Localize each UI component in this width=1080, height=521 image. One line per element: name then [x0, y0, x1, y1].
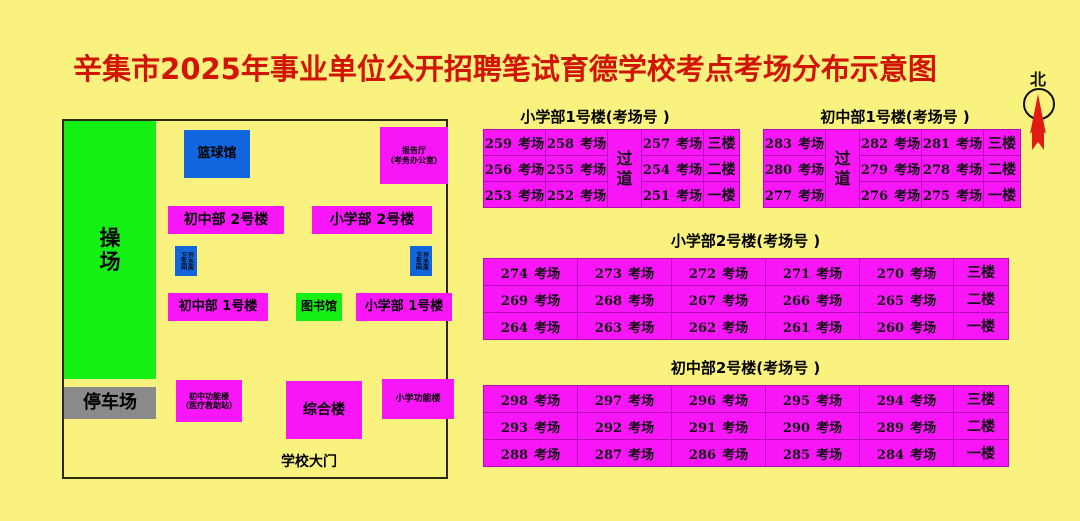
- hall-label-line2: （考务办公室）: [386, 156, 442, 165]
- room-number: 259: [485, 137, 512, 152]
- room-suffix: 考场: [628, 321, 654, 336]
- room-suffix: 考场: [956, 163, 982, 178]
- room-cell[interactable]: 262考场: [672, 313, 766, 340]
- map-block-primary-building-1: 小学部 1号楼: [356, 293, 452, 321]
- map-block-primary-building-2: 小学部 2号楼: [312, 206, 432, 234]
- room-number: 270: [877, 267, 904, 282]
- map-label-school-gate: 学校大门: [214, 451, 404, 471]
- room-cell[interactable]: 275考场: [922, 182, 984, 208]
- table-row: 283考场过道282考场281考场三楼: [764, 130, 1021, 156]
- room-cell[interactable]: 253考场: [484, 182, 546, 208]
- floor-cell: 二楼: [954, 413, 1009, 440]
- table-row: 293考场292考场291考场290考场289考场二楼: [484, 413, 1009, 440]
- room-number: 293: [501, 421, 528, 436]
- room-suffix: 考场: [722, 321, 748, 336]
- room-suffix: 考场: [798, 163, 824, 178]
- room-number: 254: [643, 163, 670, 178]
- room-suffix: 考场: [534, 421, 560, 436]
- room-number: 296: [689, 394, 716, 409]
- table-row: 298考场297考场296考场295考场294考场三楼: [484, 386, 1009, 413]
- room-number: 255: [547, 163, 574, 178]
- room-cell[interactable]: 259考场: [484, 130, 546, 156]
- room-suffix: 考场: [722, 294, 748, 309]
- room-suffix: 考场: [816, 394, 842, 409]
- room-cell[interactable]: 276考场: [860, 182, 922, 208]
- room-number: 287: [595, 448, 622, 463]
- room-suffix: 考场: [894, 163, 920, 178]
- room-suffix: 考场: [798, 137, 824, 152]
- table-row: 274考场273考场272考场271考场270考场三楼: [484, 259, 1009, 286]
- aisle-cell: 过道: [826, 130, 860, 208]
- hall-label-line1: 报告厅: [386, 146, 442, 155]
- room-cell[interactable]: 251考场: [642, 182, 704, 208]
- room-suffix: 考场: [910, 267, 936, 282]
- map-block-parking: 停车场: [64, 387, 156, 419]
- exam-room-distribution-diagram: 辛集市2025年事业单位公开招聘笔试育德学校考点考场分布示意图 北 操 场 篮球…: [0, 0, 1080, 521]
- room-suffix: 考场: [580, 137, 606, 152]
- boiler-label-left: 开水房: [187, 252, 193, 270]
- floor-cell: 三楼: [984, 130, 1021, 156]
- room-suffix: 考场: [910, 421, 936, 436]
- room-number: 265: [877, 294, 904, 309]
- room-suffix: 考场: [910, 321, 936, 336]
- room-suffix: 考场: [722, 421, 748, 436]
- room-number: 260: [877, 321, 904, 336]
- room-cell[interactable]: 265考场: [860, 286, 954, 313]
- toilet-label-left: 卫生间: [180, 252, 186, 270]
- room-cell[interactable]: 261考场: [766, 313, 860, 340]
- floor-cell: 二楼: [954, 286, 1009, 313]
- room-suffix: 考场: [628, 448, 654, 463]
- room-number: 280: [765, 163, 792, 178]
- room-number: 274: [501, 267, 528, 282]
- map-block-toilet-boiler-right: 卫生间 开水房: [410, 246, 432, 276]
- room-number: 294: [877, 394, 904, 409]
- table-title-middle-2: 初中部2号楼(考场号 ): [483, 357, 1008, 378]
- room-number: 283: [765, 137, 792, 152]
- room-number: 251: [643, 189, 670, 204]
- middle-function-line1: 初中功能楼: [181, 392, 237, 401]
- floor-cell: 三楼: [954, 259, 1009, 286]
- room-cell[interactable]: 283考场: [764, 130, 826, 156]
- room-table-middle-2: 298考场297考场296考场295考场294考场三楼293考场292考场291…: [483, 385, 1009, 467]
- table-row: 277考场276考场275考场一楼: [764, 182, 1021, 208]
- aisle-char: 道: [826, 169, 859, 189]
- room-cell[interactable]: 293考场: [484, 413, 578, 440]
- room-cell[interactable]: 295考场: [766, 386, 860, 413]
- room-suffix: 考场: [534, 394, 560, 409]
- room-suffix: 考场: [816, 421, 842, 436]
- middle-function-line2: （医疗救助站）: [181, 401, 237, 410]
- room-cell[interactable]: 287考场: [578, 440, 672, 467]
- north-arrow-icon: [1022, 80, 1054, 156]
- room-number: 278: [923, 163, 950, 178]
- room-number: 268: [595, 294, 622, 309]
- room-number: 264: [501, 321, 528, 336]
- room-suffix: 考场: [534, 294, 560, 309]
- room-suffix: 考场: [676, 189, 702, 204]
- room-cell[interactable]: 273考场: [578, 259, 672, 286]
- room-number: 273: [595, 267, 622, 282]
- map-block-complex-building: 综合楼: [286, 381, 362, 439]
- room-number: 272: [689, 267, 716, 282]
- room-suffix: 考场: [816, 448, 842, 463]
- room-suffix: 考场: [676, 163, 702, 178]
- room-cell[interactable]: 256考场: [484, 156, 546, 182]
- room-cell[interactable]: 297考场: [578, 386, 672, 413]
- room-suffix: 考场: [518, 189, 544, 204]
- floor-cell: 一楼: [704, 182, 740, 208]
- room-cell[interactable]: 284考场: [860, 440, 954, 467]
- aisle-cell: 过道: [608, 130, 642, 208]
- room-cell[interactable]: 281考场: [922, 130, 984, 156]
- room-cell[interactable]: 288考场: [484, 440, 578, 467]
- aisle-char: 过: [608, 149, 641, 169]
- room-number: 277: [765, 189, 792, 204]
- room-number: 279: [861, 163, 888, 178]
- room-number: 292: [595, 421, 622, 436]
- room-cell[interactable]: 278考场: [922, 156, 984, 182]
- room-cell[interactable]: 280考场: [764, 156, 826, 182]
- room-suffix: 考场: [798, 189, 824, 204]
- room-suffix: 考场: [676, 137, 702, 152]
- boiler-label-right: 开水房: [422, 252, 428, 270]
- room-cell[interactable]: 269考场: [484, 286, 578, 313]
- room-cell[interactable]: 258考场: [546, 130, 608, 156]
- map-block-middle-building-1: 初中部 1号楼: [168, 293, 268, 321]
- room-cell[interactable]: 272考场: [672, 259, 766, 286]
- room-suffix: 考场: [518, 163, 544, 178]
- room-suffix: 考场: [894, 137, 920, 152]
- room-cell[interactable]: 274考场: [484, 259, 578, 286]
- room-suffix: 考场: [722, 448, 748, 463]
- aisle-char: 道: [608, 169, 641, 189]
- room-cell[interactable]: 257考场: [642, 130, 704, 156]
- toilet-label-right: 卫生间: [415, 252, 421, 270]
- room-number: 285: [783, 448, 810, 463]
- room-cell[interactable]: 266考场: [766, 286, 860, 313]
- floor-cell: 三楼: [704, 130, 740, 156]
- room-suffix: 考场: [816, 294, 842, 309]
- room-number: 284: [877, 448, 904, 463]
- room-suffix: 考场: [628, 394, 654, 409]
- room-table-middle-1: 283考场过道282考场281考场三楼280考场279考场278考场二楼277考…: [763, 129, 1021, 208]
- room-number: 252: [547, 189, 574, 204]
- map-block-middle-building-2: 初中部 2号楼: [168, 206, 284, 234]
- room-cell[interactable]: 291考场: [672, 413, 766, 440]
- room-suffix: 考场: [580, 163, 606, 178]
- map-block-primary-function-building: 小学功能楼: [382, 379, 454, 419]
- map-block-library: 图书馆: [296, 293, 342, 321]
- playground-label-1: 操: [100, 226, 121, 250]
- room-cell[interactable]: 286考场: [672, 440, 766, 467]
- room-table-primary-1: 259考场258考场过道257考场三楼256考场255考场254考场二楼253考…: [483, 129, 740, 208]
- room-number: 297: [595, 394, 622, 409]
- table-row: 269考场268考场267考场266考场265考场二楼: [484, 286, 1009, 313]
- table-row: 288考场287考场286考场285考场284考场一楼: [484, 440, 1009, 467]
- room-table-primary-2: 274考场273考场272考场271考场270考场三楼269考场268考场267…: [483, 258, 1009, 340]
- room-cell[interactable]: 285考场: [766, 440, 860, 467]
- table-row: 280考场279考场278考场二楼: [764, 156, 1021, 182]
- room-suffix: 考场: [910, 394, 936, 409]
- room-suffix: 考场: [816, 267, 842, 282]
- campus-map: 操 场 篮球馆 报告厅 （考务办公室） 初中部 2号楼 小学部 2号楼 卫生间 …: [62, 119, 448, 479]
- room-number: 263: [595, 321, 622, 336]
- room-number: 266: [783, 294, 810, 309]
- floor-cell: 二楼: [704, 156, 740, 182]
- room-number: 275: [923, 189, 950, 204]
- room-number: 261: [783, 321, 810, 336]
- room-number: 269: [501, 294, 528, 309]
- floor-cell: 一楼: [954, 440, 1009, 467]
- room-number: 286: [689, 448, 716, 463]
- table-row: 264考场263考场262考场261考场260考场一楼: [484, 313, 1009, 340]
- room-suffix: 考场: [894, 189, 920, 204]
- room-suffix: 考场: [722, 394, 748, 409]
- room-number: 295: [783, 394, 810, 409]
- map-block-toilet-boiler-left: 卫生间 开水房: [175, 246, 197, 276]
- room-suffix: 考场: [534, 321, 560, 336]
- map-block-lecture-hall: 报告厅 （考务办公室）: [380, 127, 448, 184]
- room-cell[interactable]: 263考场: [578, 313, 672, 340]
- room-suffix: 考场: [628, 294, 654, 309]
- room-suffix: 考场: [816, 321, 842, 336]
- compass-north: 北: [1014, 66, 1062, 156]
- room-number: 256: [485, 163, 512, 178]
- room-number: 262: [689, 321, 716, 336]
- table-row: 259考场258考场过道257考场三楼: [484, 130, 740, 156]
- room-number: 276: [861, 189, 888, 204]
- room-cell[interactable]: 271考场: [766, 259, 860, 286]
- room-number: 257: [643, 137, 670, 152]
- map-block-middle-function-building: 初中功能楼 （医疗救助站）: [176, 380, 242, 422]
- map-block-gym: 篮球馆: [184, 130, 250, 178]
- room-suffix: 考场: [580, 189, 606, 204]
- room-cell[interactable]: 292考场: [578, 413, 672, 440]
- room-number: 271: [783, 267, 810, 282]
- floor-cell: 一楼: [954, 313, 1009, 340]
- table-title-primary-1: 小学部1号楼(考场号 ): [470, 106, 720, 127]
- room-cell[interactable]: 267考场: [672, 286, 766, 313]
- room-number: 253: [485, 189, 512, 204]
- room-cell[interactable]: 255考场: [546, 156, 608, 182]
- room-suffix: 考场: [534, 267, 560, 282]
- room-number: 291: [689, 421, 716, 436]
- room-cell[interactable]: 290考场: [766, 413, 860, 440]
- room-number: 288: [501, 448, 528, 463]
- room-number: 281: [923, 137, 950, 152]
- room-number: 258: [547, 137, 574, 152]
- room-suffix: 考场: [956, 137, 982, 152]
- room-suffix: 考场: [534, 448, 560, 463]
- room-number: 282: [861, 137, 888, 152]
- room-cell[interactable]: 289考场: [860, 413, 954, 440]
- room-suffix: 考场: [910, 294, 936, 309]
- room-suffix: 考场: [722, 267, 748, 282]
- room-cell[interactable]: 282考场: [860, 130, 922, 156]
- room-cell[interactable]: 252考场: [546, 182, 608, 208]
- playground-label-2: 场: [100, 250, 121, 274]
- aisle-char: 过: [826, 149, 859, 169]
- table-title-primary-2: 小学部2号楼(考场号 ): [483, 230, 1008, 251]
- room-suffix: 考场: [628, 421, 654, 436]
- floor-cell: 二楼: [984, 156, 1021, 182]
- room-number: 298: [501, 394, 528, 409]
- room-number: 290: [783, 421, 810, 436]
- floor-cell: 一楼: [984, 182, 1021, 208]
- room-number: 267: [689, 294, 716, 309]
- room-cell[interactable]: 268考场: [578, 286, 672, 313]
- room-cell[interactable]: 277考场: [764, 182, 826, 208]
- room-cell[interactable]: 296考场: [672, 386, 766, 413]
- room-suffix: 考场: [910, 448, 936, 463]
- room-suffix: 考场: [956, 189, 982, 204]
- room-cell[interactable]: 270考场: [860, 259, 954, 286]
- room-number: 289: [877, 421, 904, 436]
- room-suffix: 考场: [628, 267, 654, 282]
- page-title: 辛集市2025年事业单位公开招聘笔试育德学校考点考场分布示意图: [0, 46, 1010, 88]
- room-cell[interactable]: 279考场: [860, 156, 922, 182]
- room-cell[interactable]: 294考场: [860, 386, 954, 413]
- room-cell[interactable]: 264考场: [484, 313, 578, 340]
- room-cell[interactable]: 260考场: [860, 313, 954, 340]
- floor-cell: 三楼: [954, 386, 1009, 413]
- room-cell[interactable]: 298考场: [484, 386, 578, 413]
- room-cell[interactable]: 254考场: [642, 156, 704, 182]
- room-suffix: 考场: [518, 137, 544, 152]
- map-block-playground: 操 场: [64, 121, 156, 379]
- table-title-middle-1: 初中部1号楼(考场号 ): [770, 106, 1020, 127]
